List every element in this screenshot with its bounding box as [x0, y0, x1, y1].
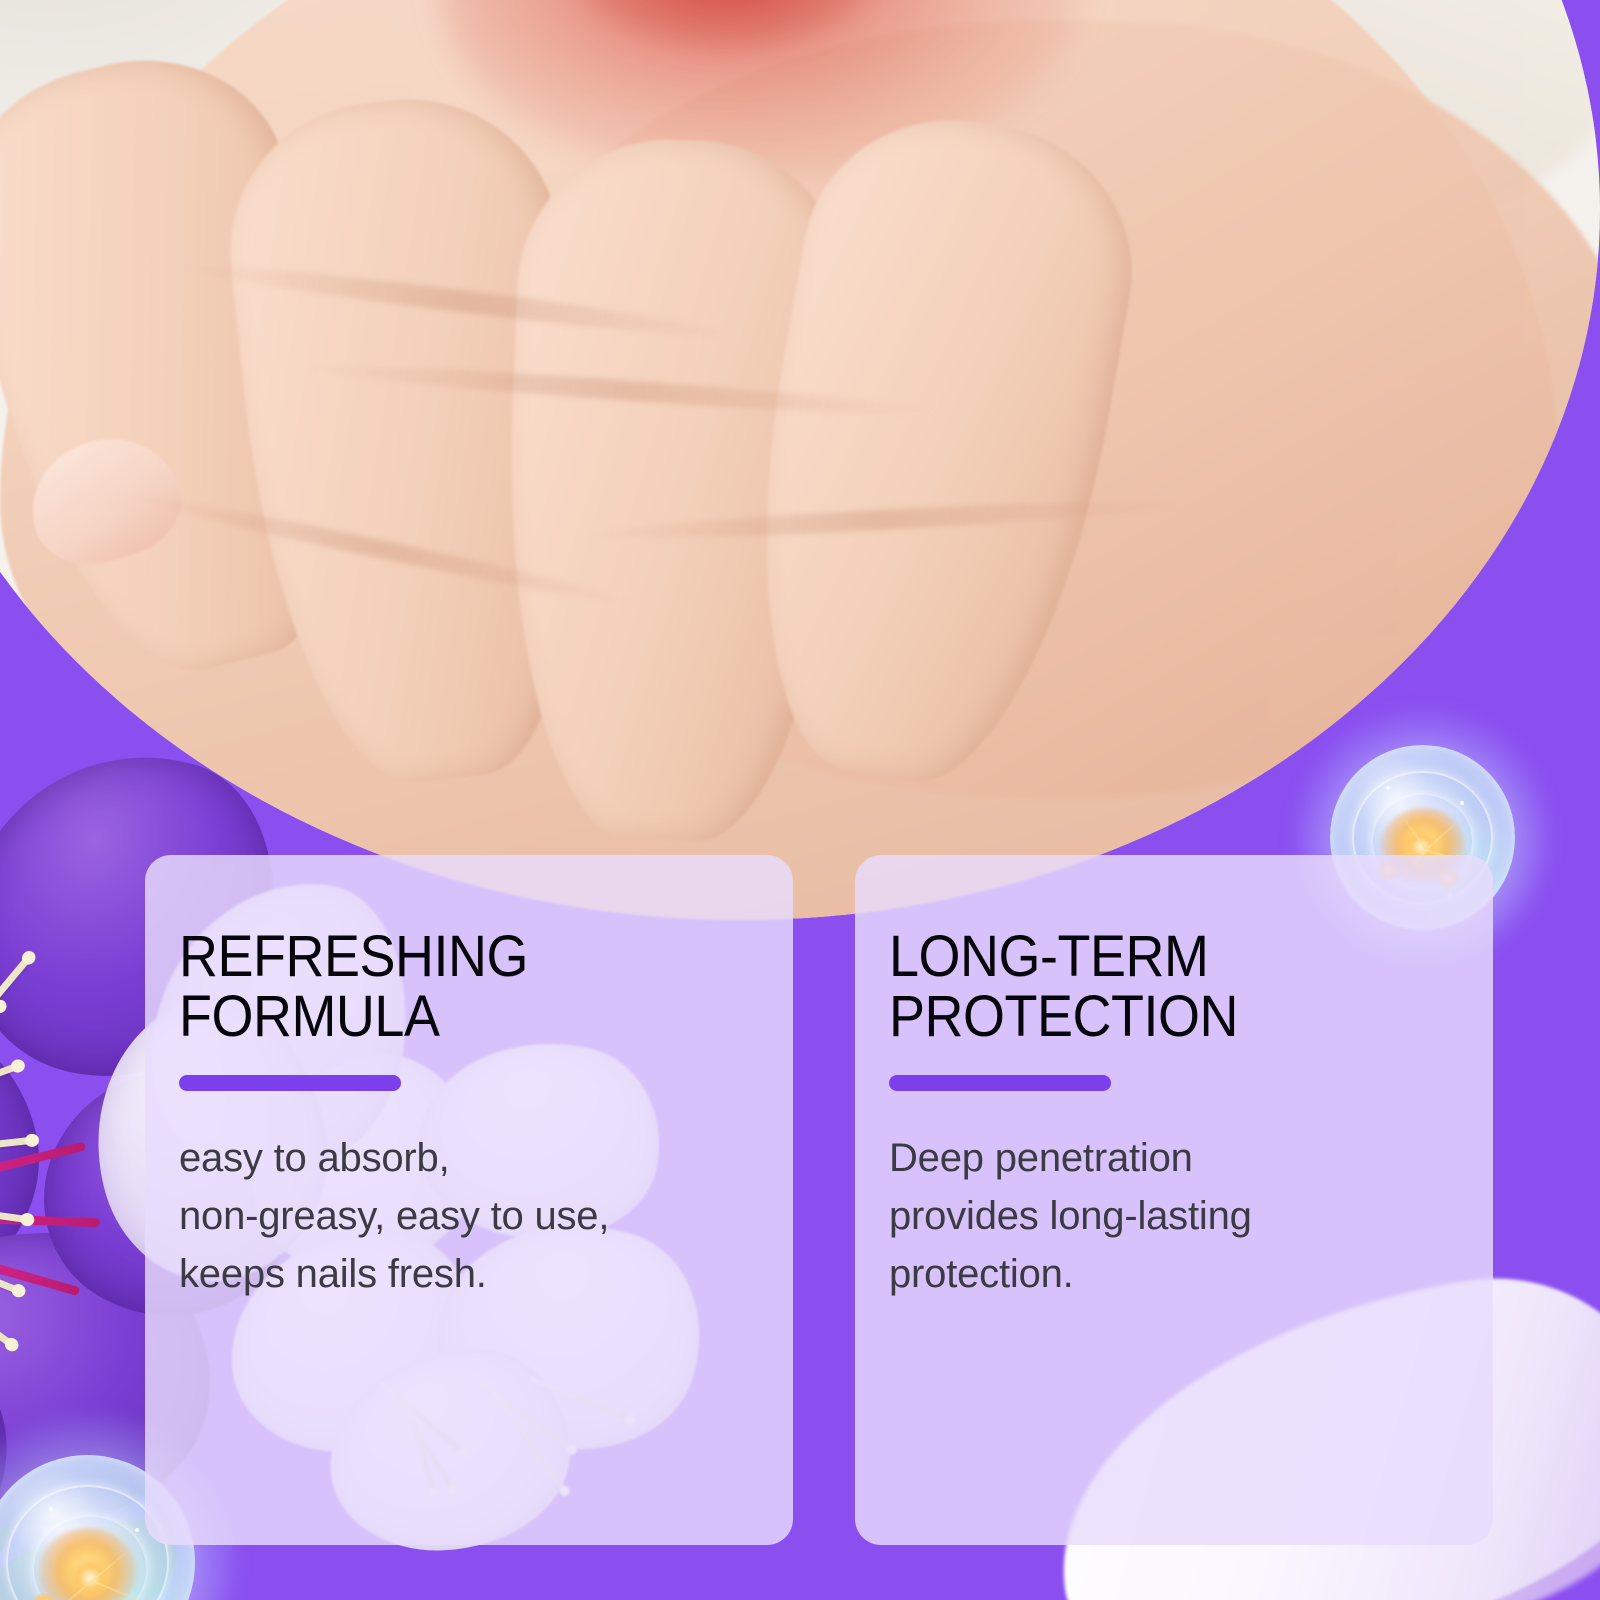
accent-bar: [179, 1075, 401, 1091]
banner-stage: REFRESHING FORMULA easy to absorb, non-g…: [0, 0, 1600, 1600]
card-body: Deep penetration provides long-lasting p…: [889, 1129, 1459, 1303]
accent-bar: [889, 1075, 1111, 1091]
feature-card-refreshing-formula[interactable]: REFRESHING FORMULA easy to absorb, non-g…: [145, 855, 793, 1545]
feature-card-long-term-protection[interactable]: LONG-TERM PROTECTION Deep penetration pr…: [855, 855, 1493, 1545]
card-body: easy to absorb, non-greasy, easy to use,…: [179, 1129, 759, 1303]
card-title: LONG-TERM PROTECTION: [889, 927, 1419, 1047]
card-title: REFRESHING FORMULA: [179, 927, 718, 1047]
